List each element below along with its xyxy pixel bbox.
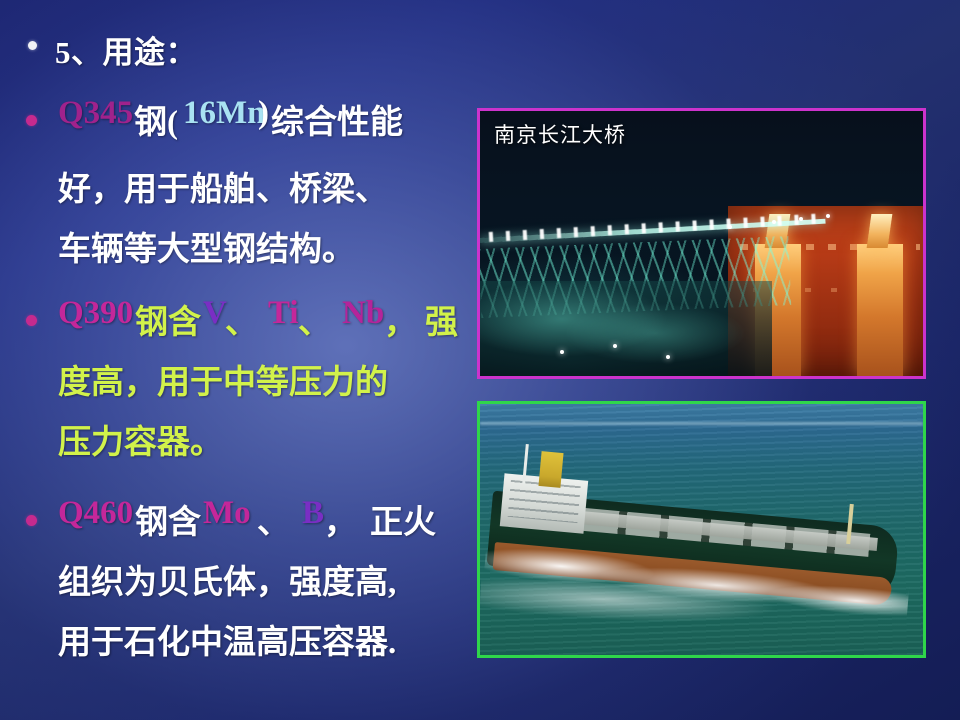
q460-element-b: B — [302, 495, 324, 532]
ship-funnel — [538, 451, 563, 488]
q345-line2-text: 好，用于船舶、桥梁、 — [58, 162, 388, 210]
q460-comma: ， — [324, 495, 357, 543]
q460-contains: 钢含 — [135, 495, 201, 543]
q390-sep-2: 、 — [298, 295, 331, 343]
q390-line1-tail: 强 — [425, 295, 458, 343]
photo-nanjing-yangtze-bridge: 南京长江大桥 — [477, 108, 926, 379]
presentation-slide: 5、用途： Q345 钢( 16Mn ) 综合性能 好，用于船舶、桥梁、 车辆等… — [0, 0, 960, 720]
q460-sep-1: 、 — [257, 495, 290, 543]
photo-bulk-carrier-ship — [477, 401, 926, 658]
q345-grade-label: Q345 — [58, 95, 133, 132]
q460-grade-label: Q460 — [58, 495, 133, 532]
q460-line3-text: 用于石化中温高压容器. — [58, 615, 396, 663]
bridge-light-spark — [666, 355, 670, 359]
q390-sep-1: 、 — [225, 295, 258, 343]
q390-element-nb: Nb — [342, 295, 384, 332]
bullet-icon-q390 — [26, 315, 37, 326]
q390-line2-text: 度高，用于中等压力的 — [58, 355, 388, 403]
bridge-light-spark — [826, 214, 830, 218]
q460-element-mo: Mo — [203, 495, 251, 532]
bullet-icon-q345 — [26, 115, 37, 126]
bullet-icon-q460 — [26, 515, 37, 526]
title-bullet-icon — [28, 41, 37, 50]
bridge-tower-right — [857, 244, 903, 377]
bridge-water-reflection — [480, 281, 772, 376]
q390-element-ti: Ti — [268, 295, 299, 332]
page-title: 5、用途： — [55, 27, 197, 72]
q390-line3-text: 压力容器。 — [58, 415, 223, 463]
horizon-line — [480, 422, 923, 425]
bridge-light-spark — [728, 225, 732, 229]
q460-line2-text: 组织为贝氏体，强度高, — [58, 555, 396, 603]
photo-caption-bridge: 南京长江大桥 — [494, 119, 626, 149]
q460-line1-tail: 正火 — [370, 495, 436, 543]
q345-steel-close: ) — [258, 95, 269, 132]
q345-steel-open: 钢( — [134, 95, 178, 143]
q390-grade-label: Q390 — [58, 295, 133, 332]
q390-element-v: V — [203, 295, 227, 332]
q345-line3-text: 车辆等大型钢结构。 — [58, 222, 355, 270]
bridge-tower-right-cap — [866, 214, 892, 248]
q345-alloy-name: 16Mn — [183, 95, 266, 132]
bridge-light-spark — [799, 217, 803, 221]
bridge-light-spark — [560, 350, 564, 354]
q390-comma: ， — [384, 295, 417, 343]
q390-contains: 钢含 — [135, 295, 201, 343]
slide-text-column: 5、用途： Q345 钢( 16Mn ) 综合性能 好，用于船舶、桥梁、 车辆等… — [0, 0, 478, 720]
q345-line1-tail: 综合性能 — [271, 95, 403, 143]
